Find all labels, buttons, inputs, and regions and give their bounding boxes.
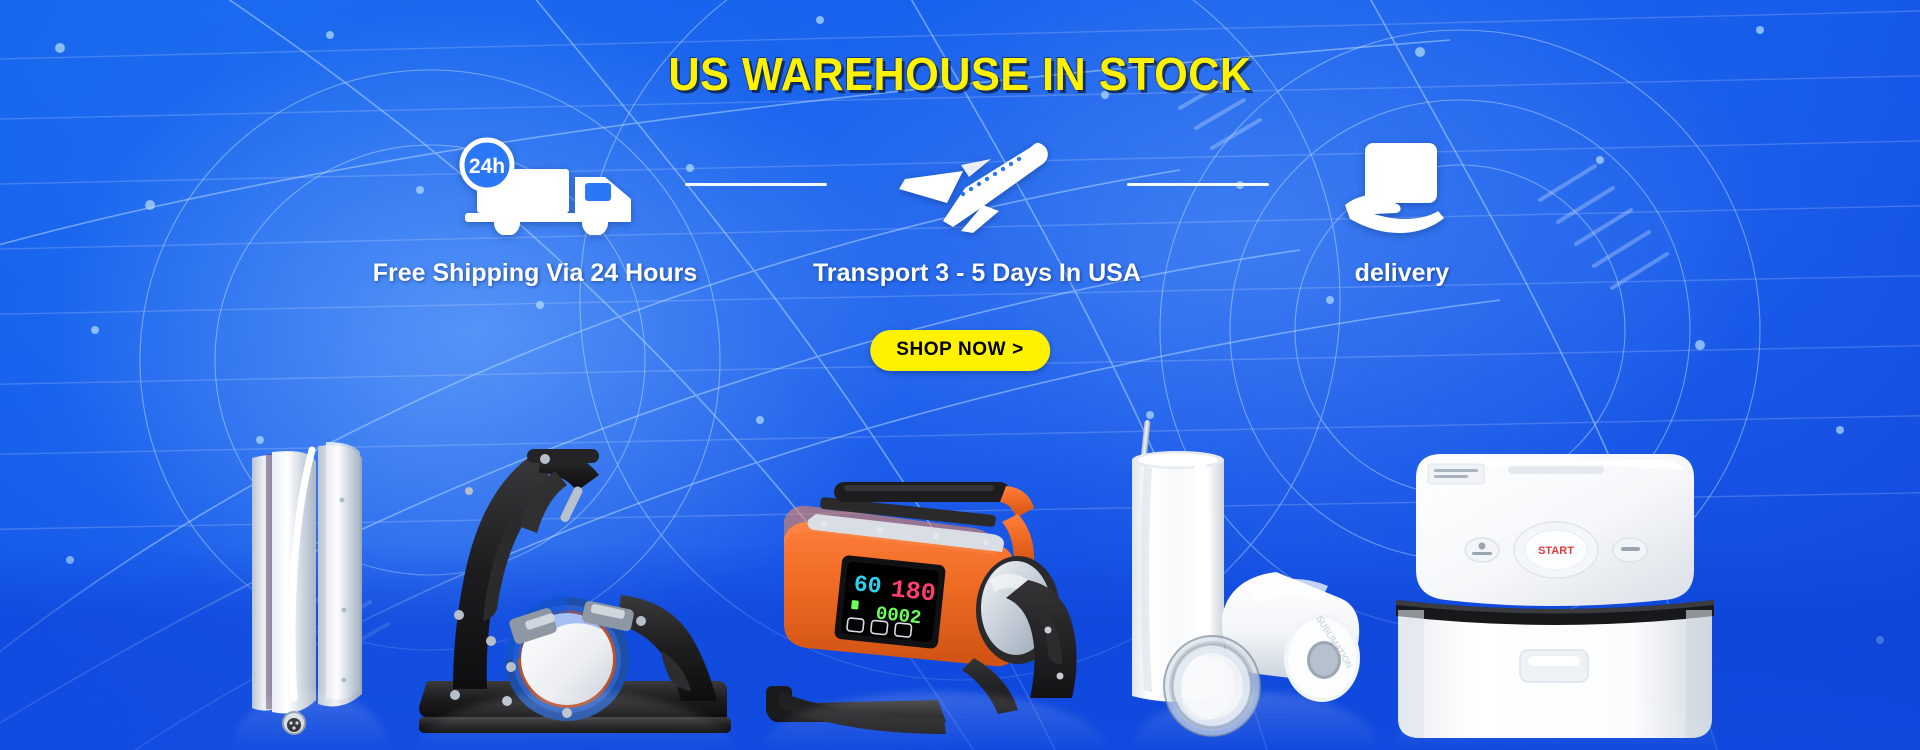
connector-line-1 bbox=[685, 132, 827, 237]
product-mug-heating-element bbox=[230, 440, 390, 750]
product-showcase: 60 180 0002 bbox=[0, 230, 1920, 750]
connector-line-2 bbox=[1127, 132, 1269, 237]
led-temperature-value: 180 bbox=[889, 575, 937, 609]
product-tumbler-heat-press: 60 180 0002 bbox=[760, 480, 1110, 750]
page-title: US WAREHOUSE IN STOCK bbox=[58, 47, 1863, 101]
airplane-icon bbox=[887, 132, 1067, 237]
delivery-truck-24h-icon: 24h bbox=[435, 132, 635, 237]
promo-banner: US WAREHOUSE IN STOCK 24h Fr bbox=[0, 0, 1920, 750]
hand-holding-box-icon bbox=[1337, 132, 1467, 237]
product-shrink-wrap-oven: START bbox=[1390, 450, 1720, 750]
start-button-label: START bbox=[1538, 545, 1574, 557]
led-time-value: 60 bbox=[853, 571, 883, 600]
product-sublimation-tumblers: SUBLIMATION bbox=[1130, 420, 1380, 750]
badge-24h: 24h bbox=[469, 155, 505, 178]
product-mug-heat-press bbox=[415, 445, 735, 750]
